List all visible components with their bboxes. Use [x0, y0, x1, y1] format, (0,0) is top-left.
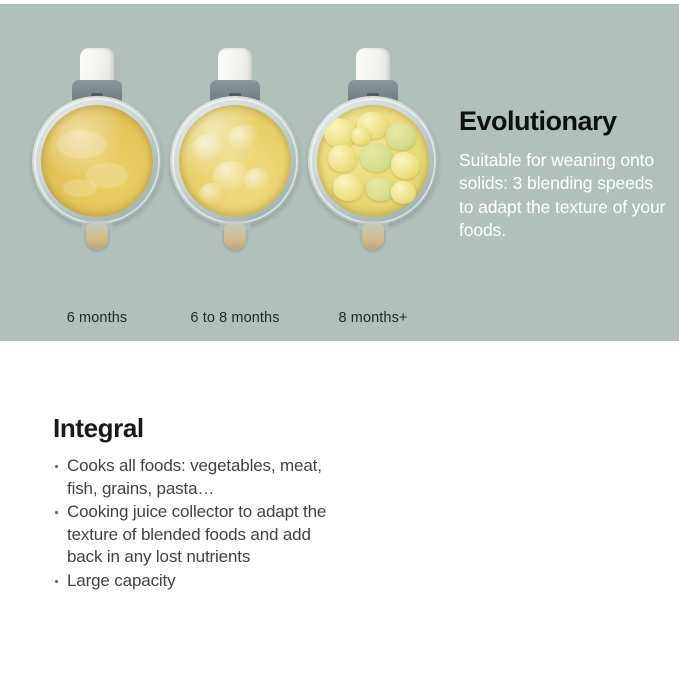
jar-label: 6 to 8 months	[166, 310, 304, 326]
list-item: Cooking juice collector to adapt the tex…	[53, 501, 343, 569]
integral-heading: Integral	[53, 415, 343, 441]
jar-cap-icon	[356, 48, 390, 84]
jar-cap-icon	[80, 48, 114, 84]
integral-text-block: Integral Cooks all foods: vegetables, me…	[53, 415, 343, 594]
evolutionary-panel: 6 months 6 to 8 months	[0, 4, 679, 341]
evolutionary-body: Suitable for weaning onto solids: 3 blen…	[459, 149, 669, 242]
jar-label: 6 months	[28, 310, 166, 326]
jar-6-months: 6 months	[28, 44, 166, 294]
integral-panel: Integral Cooks all foods: vegetables, me…	[0, 341, 679, 679]
food-textured-puree	[179, 105, 291, 217]
jar-label: 8 months+	[304, 310, 442, 326]
jar-bowl	[170, 96, 300, 226]
food-smooth-puree	[41, 105, 153, 217]
evolutionary-text-block: Evolutionary Suitable for weaning onto s…	[459, 108, 669, 242]
jar-bowl	[32, 96, 162, 226]
integral-bullet-list: Cooks all foods: vegetables, meat, fish,…	[53, 455, 343, 593]
evolutionary-heading: Evolutionary	[459, 108, 669, 135]
food-chunky-mash	[317, 105, 429, 217]
jar-spout	[224, 224, 246, 250]
product-feature-graphic: 6 months 6 to 8 months	[0, 0, 679, 679]
jar-bowl	[308, 96, 438, 226]
jar-cap-icon	[218, 48, 252, 84]
jar-row: 6 months 6 to 8 months	[0, 4, 450, 341]
jar-spout	[362, 224, 384, 250]
jar-6-to-8-months: 6 to 8 months	[166, 44, 304, 294]
jar-8-months-plus: 8 months+	[304, 44, 442, 294]
jar-spout	[86, 224, 108, 250]
list-item: Large capacity	[53, 570, 343, 593]
list-item: Cooks all foods: vegetables, meat, fish,…	[53, 455, 343, 500]
